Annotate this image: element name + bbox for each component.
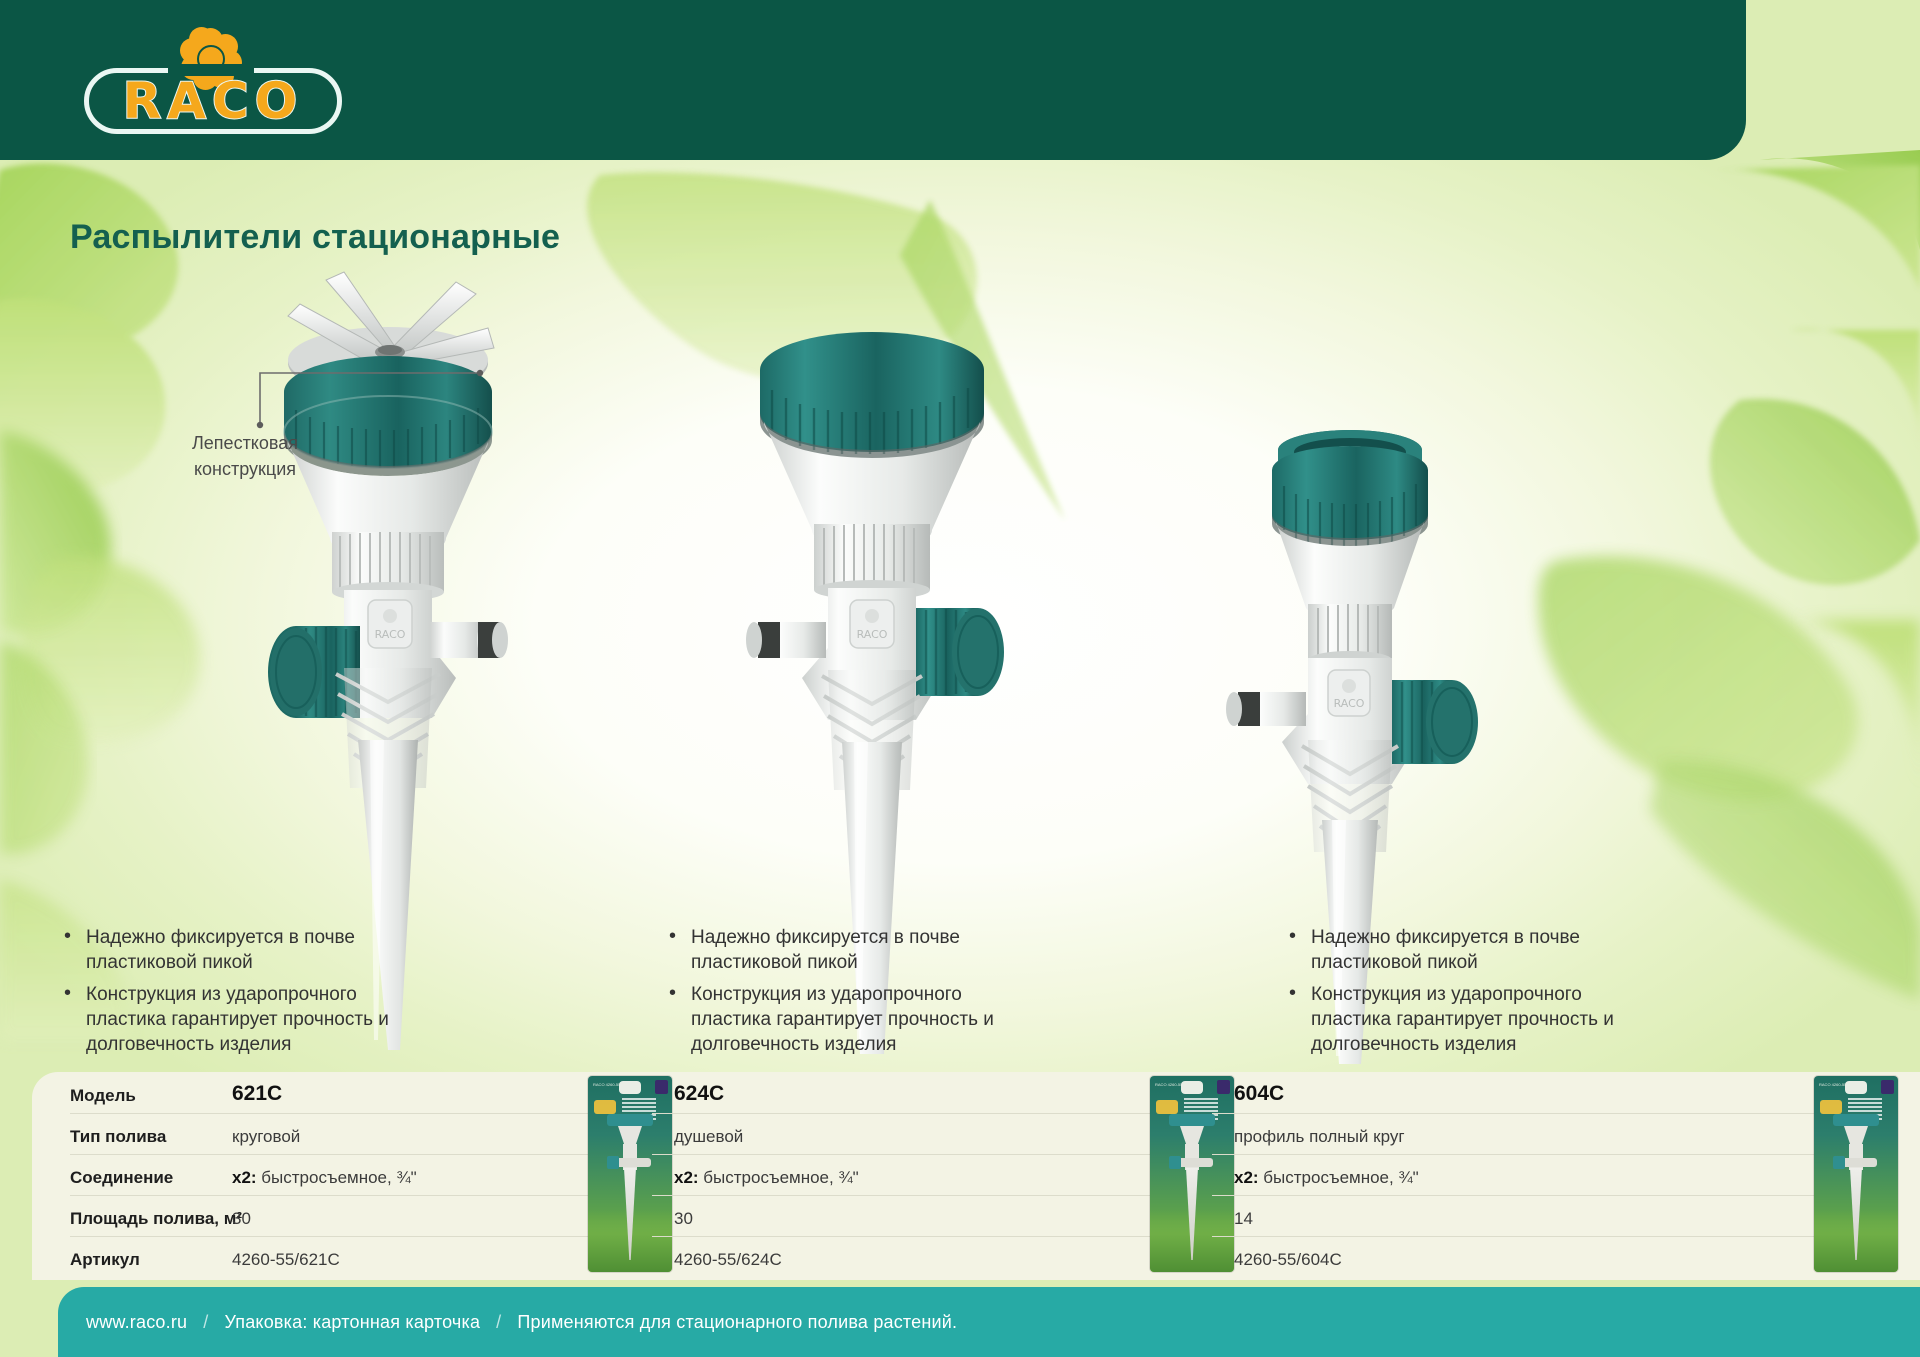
blister-top-text: RACO 4260-55 [593,1082,620,1087]
footer-separator-2: / [496,1312,501,1333]
blister-pack-604c: RACO 4260-55 [1814,1076,1898,1272]
svg-text:RACO: RACO [375,628,406,641]
footer-website[interactable]: www.raco.ru [86,1312,187,1333]
hang-hole [1845,1081,1867,1094]
list-item: Конструкция из ударопрочного пластика га… [665,982,995,1058]
spec-value-area: 30 [674,1209,693,1229]
spec-value-type: душевой [674,1127,743,1147]
spec-label-area: Площадь полива, м² [70,1209,242,1229]
callout-text: Лепестковая конструкция [170,430,320,482]
blister-top-text: RACO 4260-55 [1819,1082,1846,1087]
spec-label-model: Модель [70,1086,136,1106]
page-title: Распылители стационарные [70,218,560,257]
blister-product [1833,1114,1879,1264]
blister-badge [1881,1080,1894,1094]
spec-value-connection: x2: быстросъемное, ¾" [232,1168,417,1188]
raco-logo[interactable]: RACO [60,22,350,140]
connection-prefix: x2: [232,1168,257,1187]
spec-value-type: профиль полный круг [1234,1127,1405,1147]
list-item: Надежно фиксируется в почве пластиковой … [1285,925,1615,976]
connection-prefix: x2: [674,1168,699,1187]
spec-label-connection: Соединение [70,1168,173,1188]
blister-logo [1820,1100,1842,1114]
hang-hole [1181,1081,1203,1094]
list-item: Надежно фиксируется в почве пластиковой … [60,925,390,976]
spec-value-area: 30 [232,1209,251,1229]
list-item: Конструкция из ударопрочного пластика га… [60,982,390,1058]
spec-label-type: Тип полива [70,1127,166,1147]
connection-text: быстросъемное, ¾" [699,1168,859,1187]
blister-top-text: RACO 4260-55 [1155,1082,1182,1087]
page-header: RACO [0,0,1746,160]
spec-value-model: 624C [674,1082,724,1106]
spec-label-sku: Артикул [70,1250,140,1270]
list-item: Конструкция из ударопрочного пластика га… [1285,982,1615,1058]
spec-value-model: 621C [232,1082,282,1106]
features-list-624c: Надежно фиксируется в почве пластиковой … [665,925,995,1063]
spec-value-connection: x2: быстросъемное, ¾" [1234,1168,1419,1188]
list-item: Надежно фиксируется в почве пластиковой … [665,925,995,976]
blister-logo [594,1100,616,1114]
callout-line-1: Лепестковая [170,430,320,456]
spec-column-624c: 624C душевой x2: быстросъемное, ¾" 30 42… [652,1072,1212,1280]
footer-packaging: Упаковка: картонная карточка [224,1312,480,1333]
connection-text: быстросъемное, ¾" [257,1168,417,1187]
spec-value-model: 604C [1234,1082,1284,1106]
spec-value-area: 14 [1234,1209,1253,1229]
spec-value-connection: x2: быстросъемное, ¾" [674,1168,859,1188]
svg-text:RACO: RACO [857,628,888,641]
spec-value-type: круговой [232,1127,300,1147]
blister-product [1169,1114,1215,1264]
spec-value-sku: 4260-55/621C [232,1250,340,1270]
spec-value-sku: 4260-55/604C [1234,1250,1342,1270]
page-footer: www.raco.ru / Упаковка: картонная карточ… [58,1287,1920,1357]
footer-usage: Применяются для стационарного полива рас… [517,1312,957,1333]
footer-separator-1: / [203,1312,208,1333]
connection-prefix: x2: [1234,1168,1259,1187]
spec-table-panel: Модель Тип полива Соединение Площадь пол… [32,1072,1920,1280]
features-list-604c: Надежно фиксируется в почве пластиковой … [1285,925,1615,1063]
spec-column-604c: 604C профиль полный круг x2: быстросъемн… [1212,1072,1920,1280]
callout-line-2: конструкция [170,456,320,482]
brand-name: RACO [84,69,342,133]
blister-logo [1156,1100,1178,1114]
svg-text:RACO: RACO [1334,697,1365,710]
connection-text: быстросъемное, ¾" [1259,1168,1419,1187]
blister-product [607,1114,653,1264]
callout-leader-line [230,350,490,440]
features-list-621c: Надежно фиксируется в почве пластиковой … [60,925,390,1063]
spec-column-621c: Модель Тип полива Соединение Площадь пол… [32,1072,652,1280]
spec-value-sku: 4260-55/624C [674,1250,782,1270]
hang-hole [619,1081,641,1094]
